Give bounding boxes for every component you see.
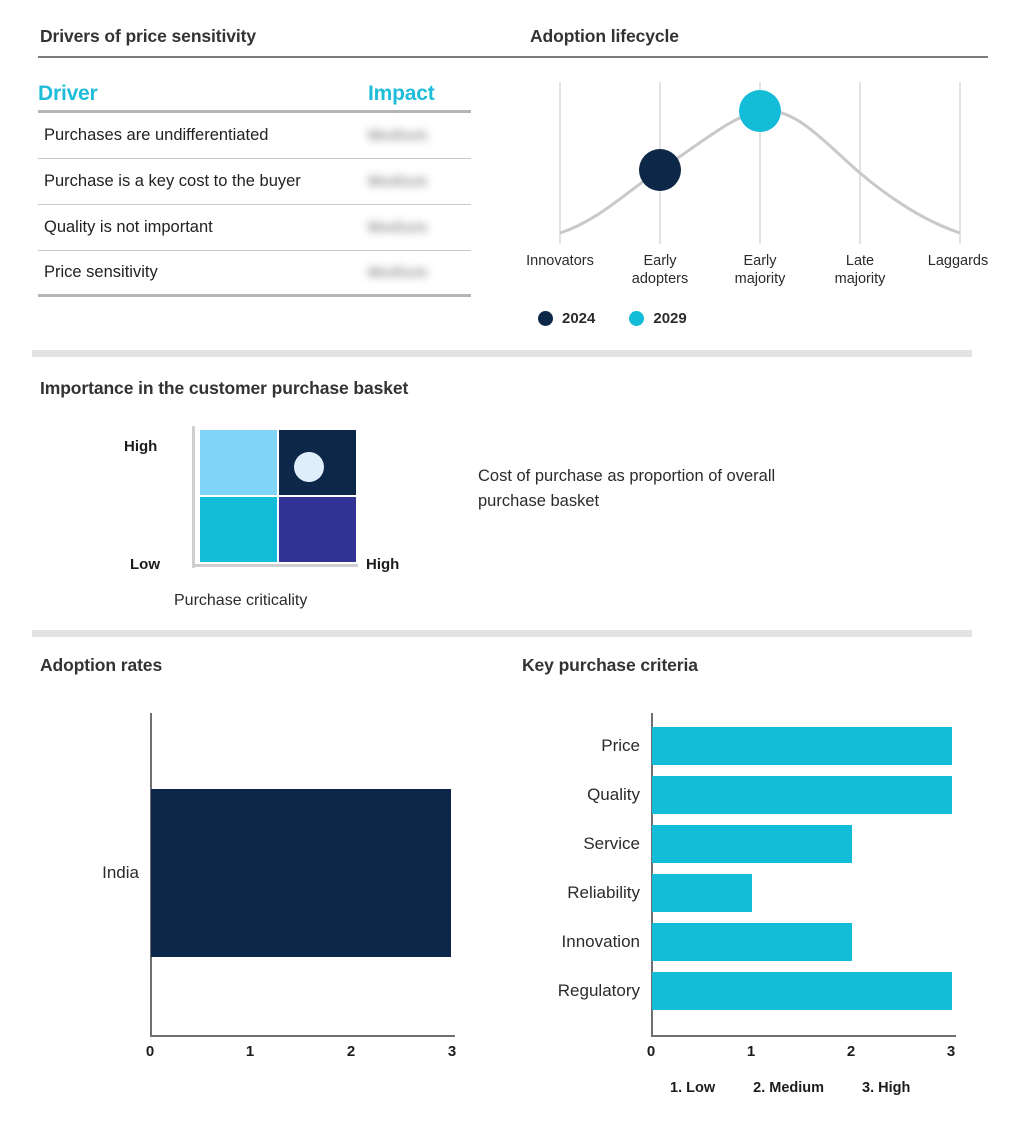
lifecycle-label-early-majority: Early majority [706,252,814,288]
marker-2024 [639,149,681,191]
legend-dot-icon [538,311,553,326]
matrix-x-axis-caption: Purchase criticality [174,592,307,610]
cell-driver: Purchases are undifferentiated [38,126,368,145]
table-row: Purchases are undifferentiated Medium [38,113,471,159]
bar-regulatory[interactable]: Regulatory [652,972,952,1010]
column-header-impact: Impact [368,82,471,106]
bar-label-reliability: Reliability [567,883,652,903]
x-tick-2: 2 [847,1043,855,1060]
x-tick-2: 2 [347,1043,355,1060]
criteria-panel-title: Key purchase criteria [522,655,698,676]
legend-item-2029[interactable]: 2029 [629,310,686,327]
bar-reliability[interactable]: Reliability [652,874,752,912]
adoption-panel-title: Adoption rates [40,655,162,676]
x-tick-3: 3 [947,1043,955,1060]
cell-driver: Quality is not important [38,218,368,237]
matrix-x-label-high: High [366,556,399,573]
drivers-panel-title: Drivers of price sensitivity [40,26,256,47]
cell-driver: Price sensitivity [38,263,368,282]
bar-india[interactable]: India [151,789,451,957]
lifecycle-curve-plot [510,78,1000,248]
lifecycle-label-early-adopters: Early adopters [606,252,714,288]
bar-quality[interactable]: Quality [652,776,952,814]
matrix-cell-high-crit-high-cost[interactable] [279,430,356,495]
footnote-low: 1. Low [670,1080,715,1096]
matrix-y-label-high: High [124,438,157,455]
adoption-rates-chart: India 0 1 2 3 [38,713,498,1043]
table-row: Quality is not important Medium [38,205,471,251]
matrix-cell-low-crit-low-cost[interactable] [200,497,277,562]
matrix-y-axis [192,426,195,568]
drivers-table: Driver Impact Purchases are undifferenti… [38,70,471,297]
lifecycle-panel-title: Adoption lifecycle [530,26,679,47]
legend-dot-icon [629,311,644,326]
basket-note-text: Cost of purchase as proportion of overal… [478,464,838,514]
bar-label-india: India [102,863,151,883]
footnote-medium: 2. Medium [753,1080,824,1096]
lifecycle-label-innovators: Innovators [506,252,614,270]
bar-service[interactable]: Service [652,825,852,863]
footnote-high: 3. High [862,1080,910,1096]
x-tick-1: 1 [246,1043,254,1060]
top-section-rule [38,56,988,58]
lifecycle-legend: 2024 2029 [538,310,687,327]
position-marker-icon [294,452,324,482]
lifecycle-label-late-majority: Late majority [806,252,914,288]
adoption-lifecycle-chart: Innovators Early adopters Early majority… [510,70,1000,340]
marker-2029 [739,90,781,132]
bar-label-quality: Quality [587,785,652,805]
bar-label-service: Service [583,834,652,854]
adoption-x-axis [150,1035,455,1037]
section-divider-1 [32,350,972,357]
basket-panel-title: Importance in the customer purchase bask… [40,378,408,399]
x-tick-1: 1 [747,1043,755,1060]
bar-label-regulatory: Regulatory [558,981,652,1001]
table-header-row: Driver Impact [38,70,471,106]
legend-label: 2024 [562,310,595,327]
x-tick-3: 3 [448,1043,456,1060]
matrix-x-axis [192,564,358,567]
bar-innovation[interactable]: Innovation [652,923,852,961]
matrix-y-label-low: Low [130,556,160,573]
cell-impact-redacted: Medium [368,127,471,144]
cell-impact-redacted: Medium [368,264,471,281]
bar-price[interactable]: Price [652,727,952,765]
cell-impact-redacted: Medium [368,173,471,190]
criteria-scale-footnote: 1. Low 2. Medium 3. High [670,1080,910,1096]
matrix-grid [200,430,356,562]
dashboard-page: Drivers of price sensitivity Adoption li… [0,0,1026,1124]
matrix-cell-low-crit-high-cost[interactable] [200,430,277,495]
x-tick-0: 0 [146,1043,154,1060]
column-header-driver: Driver [38,82,368,106]
x-tick-0: 0 [647,1043,655,1060]
cell-impact-redacted: Medium [368,219,471,236]
table-row: Purchase is a key cost to the buyer Medi… [38,159,471,205]
criteria-x-axis [651,1035,956,1037]
table-row: Price sensitivity Medium [38,251,471,297]
legend-label: 2029 [653,310,686,327]
matrix-cell-high-crit-low-cost[interactable] [279,497,356,562]
lifecycle-category-labels: Innovators Early adopters Early majority… [510,252,1000,300]
bar-label-price: Price [601,736,652,756]
section-divider-2 [32,630,972,637]
bar-label-innovation: Innovation [562,932,652,952]
legend-item-2024[interactable]: 2024 [538,310,595,327]
cell-driver: Purchase is a key cost to the buyer [38,172,368,191]
lifecycle-label-laggards: Laggards [904,252,1012,270]
two-by-two-matrix: High Low High Purchase criticality [200,430,356,562]
criteria-chart: Price Quality Service Reliability Innova… [520,713,990,1043]
